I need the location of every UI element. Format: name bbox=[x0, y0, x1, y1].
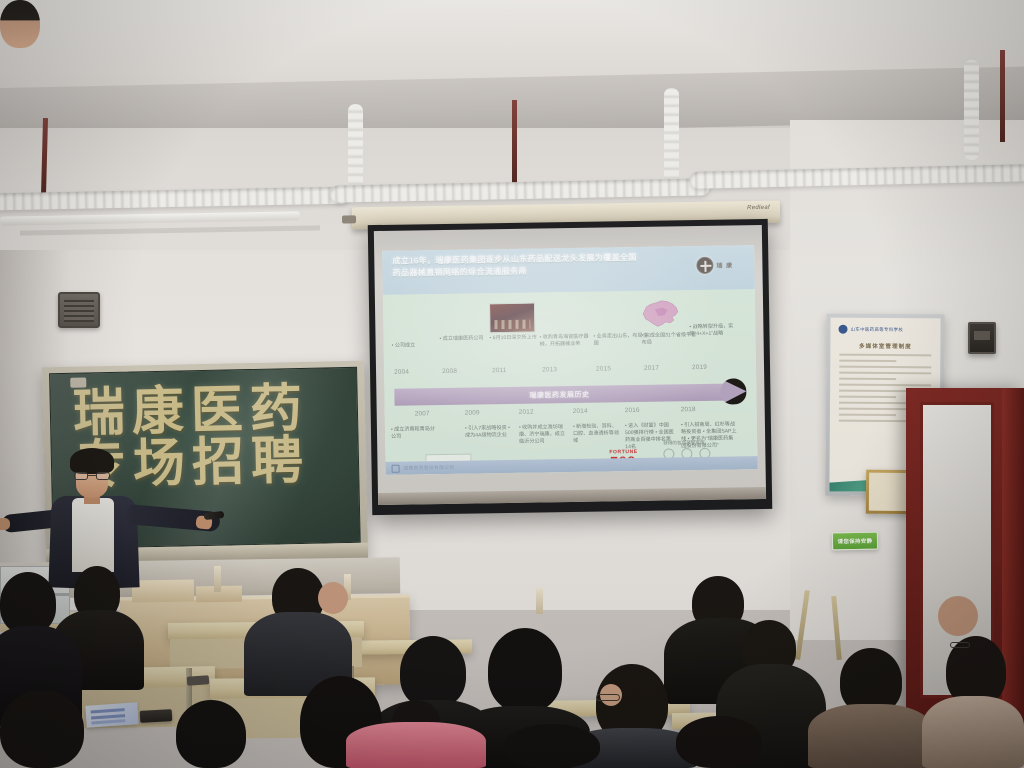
poster-text-line bbox=[839, 366, 931, 369]
awards-title: 获得的各项荣誉资质 bbox=[663, 439, 741, 446]
lens-left bbox=[74, 472, 88, 480]
presentation-slide: 成立16年，瑞康医药集团逐步从山东药品配送龙头发展为覆盖全国 药品器械直销网络的… bbox=[382, 245, 757, 475]
handout-papers[interactable] bbox=[85, 702, 138, 728]
vertical-pipe bbox=[664, 88, 679, 184]
poster-text-line bbox=[839, 378, 896, 380]
poster-text-line bbox=[839, 360, 896, 362]
timeline-year: 2007 bbox=[415, 410, 430, 417]
slide-body: • 公司成立 • 成立瑞康医药公司 • 6月10日深交所上市 • 收购青岛海官医… bbox=[383, 289, 758, 475]
school-logo: 山东中医药高等专科学校 bbox=[838, 325, 903, 334]
timeline-event: • 引入7家战略投资 • 成为4A级物流企业 bbox=[465, 425, 513, 440]
timeline-year: 2013 bbox=[542, 366, 557, 373]
timeline-event: • 成立济南和青岛分公司 bbox=[391, 426, 439, 441]
ceiling-rod bbox=[512, 100, 517, 184]
wall-vent bbox=[58, 292, 100, 328]
school-name: 山东中医药高等专科学校 bbox=[851, 326, 904, 332]
timeline-year: 2018 bbox=[681, 406, 696, 413]
timeline-arrow: 瑞康医药发展历史 bbox=[394, 383, 746, 406]
poster-text-line bbox=[839, 396, 896, 398]
poster-text-line bbox=[839, 384, 931, 387]
smartphone[interactable] bbox=[140, 709, 173, 723]
presenter-hair bbox=[70, 448, 114, 474]
screen-bottom-bar bbox=[378, 487, 766, 505]
footer-text: 瑞康医药股份有限公司 bbox=[404, 464, 455, 471]
presenter-left-hand bbox=[0, 518, 10, 530]
desk-post bbox=[214, 566, 221, 592]
company-logo: 瑞 康 bbox=[696, 253, 748, 276]
timeline-year: 2008 bbox=[442, 368, 457, 375]
timeline-event: • 收购并成立潍坊瑞康、济宁瑞康，成立临沂分公司 bbox=[519, 424, 567, 446]
school-logo-icon bbox=[838, 325, 847, 334]
timeline-event: • 收购青岛海官医疗器械，开拓器械业务 bbox=[539, 334, 597, 349]
timeline-event: • 公司成立 bbox=[392, 342, 448, 350]
quiet-notice-sign: 请您保持安静 bbox=[832, 532, 878, 551]
timeline-year: 2019 bbox=[692, 364, 707, 371]
timeline-year: 2004 bbox=[394, 369, 409, 376]
timeline-event: • 战略转型升级，实施“4+X+1”战略 bbox=[689, 323, 745, 338]
smartphone[interactable] bbox=[187, 675, 210, 686]
timeline-year: 2016 bbox=[625, 407, 640, 414]
slide-title-band: 成立16年，瑞康医药集团逐步从山东药品配送龙头发展为覆盖全国 药品器械直销网络的… bbox=[382, 245, 755, 295]
screen-brand-label: Redleaf bbox=[747, 205, 770, 211]
timeline-event: • 成立瑞康医药公司 bbox=[439, 335, 495, 343]
ipo-ceremony-photo bbox=[489, 303, 535, 334]
presenter-shirt bbox=[72, 498, 114, 572]
vertical-pipe bbox=[964, 60, 979, 160]
presenter bbox=[0, 0, 40, 48]
timeline-year: 2011 bbox=[492, 367, 507, 374]
timeline-year: 2017 bbox=[644, 365, 659, 372]
quiet-notice-text: 请您保持安静 bbox=[838, 537, 873, 546]
lens-right bbox=[96, 472, 110, 480]
logo-text: 瑞 康 bbox=[716, 260, 733, 269]
ceiling-rod bbox=[1000, 50, 1005, 142]
desk-post bbox=[536, 588, 543, 614]
classroom-scene: Redleaf 成立16年，瑞康医药集团逐步从山东药品配送龙头发展为覆盖全国 药… bbox=[0, 0, 1024, 768]
projector-screen: 成立16年，瑞康医药集团逐步从山东药品配送龙头发展为覆盖全国 药品器械直销网络的… bbox=[368, 219, 773, 515]
timeline-top-years: 2004 2008 2011 2013 2015 2017 2019 bbox=[384, 363, 756, 383]
wall-control-box[interactable] bbox=[968, 322, 996, 354]
desk-riser bbox=[132, 579, 194, 602]
timeline-event: • 新增检验、耳科、口腔、血液透析等领域 bbox=[573, 423, 621, 445]
poster-text-line bbox=[839, 414, 896, 416]
footer-logo-icon bbox=[392, 464, 400, 472]
timeline-event: • 6月10日深交所上市 bbox=[489, 334, 545, 342]
china-map-graphic bbox=[637, 296, 682, 331]
screen-surface: 成立16年，瑞康医药集团逐步从山东药品配送龙头发展为覆盖全国 药品器械直销网络的… bbox=[374, 225, 766, 505]
glasses-icon bbox=[950, 642, 970, 648]
glasses-icon bbox=[596, 694, 620, 701]
timeline-year: 2012 bbox=[519, 409, 534, 416]
presenter-head bbox=[0, 0, 40, 48]
glasses-icon bbox=[74, 472, 110, 480]
logo-mark-icon bbox=[696, 256, 713, 273]
glasses-bridge bbox=[88, 475, 96, 476]
timeline-year: 2015 bbox=[596, 365, 611, 372]
poster-text-line bbox=[839, 372, 931, 375]
poster-text-line bbox=[839, 354, 931, 357]
timeline-year: 2009 bbox=[465, 409, 480, 416]
vertical-pipe bbox=[348, 104, 363, 190]
screen-bracket bbox=[342, 215, 356, 223]
poster-heading: 多媒体室管理制度 bbox=[830, 342, 940, 351]
timeline-year: 2014 bbox=[573, 408, 588, 415]
timeline-arrow-label: 瑞康医药发展历史 bbox=[394, 384, 724, 406]
